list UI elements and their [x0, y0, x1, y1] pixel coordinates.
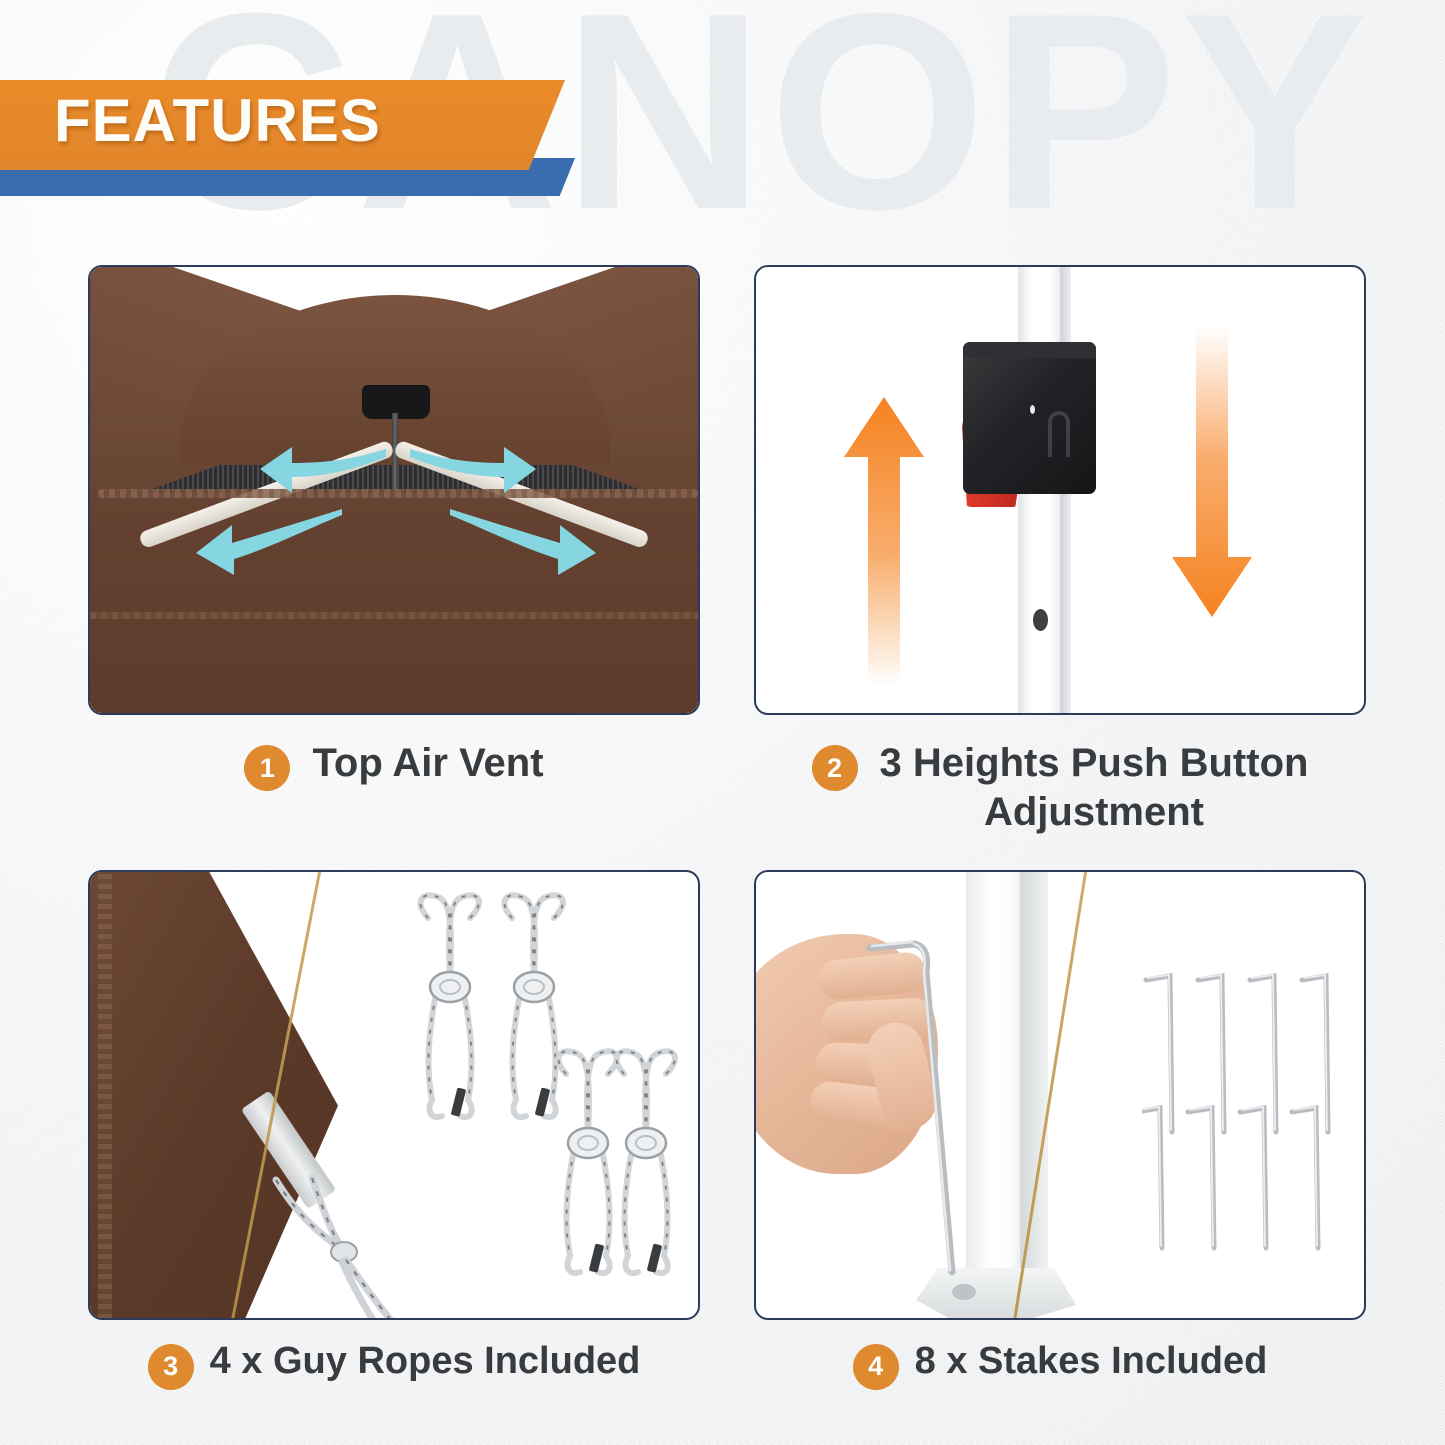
feature-caption-4: 4 8 x Stakes Included [754, 1320, 1366, 1410]
feature-title-1: Top Air Vent [312, 739, 543, 788]
feature-number-badge-4: 4 [853, 1344, 899, 1390]
feature-card-1: 1 Top Air Vent [88, 265, 700, 837]
canopy-seam-lower [90, 612, 700, 619]
banner-title: FEATURES [54, 86, 381, 155]
feature-image-stakes [754, 870, 1366, 1320]
feature-card-2: 2 3 Heights Push Button Adjustment [754, 265, 1366, 837]
feature-title-2: 3 Heights Push Button Adjustment [880, 739, 1309, 837]
canopy-seam-upper [98, 489, 698, 498]
attached-guy-rope-icon [268, 1172, 488, 1320]
push-button-housing [963, 342, 1096, 494]
feature-card-3: 3 4 x Guy Ropes Included [88, 870, 700, 1410]
airflow-arrow-upper-left-icon [258, 443, 388, 501]
feature-number-badge-3: 3 [148, 1344, 194, 1390]
feature-image-guy-ropes [88, 870, 700, 1320]
stake-set-icon [1142, 932, 1362, 1252]
airflow-arrow-lower-right-icon [448, 505, 598, 579]
housing-pin-dot [1030, 405, 1035, 414]
feature-title-3: 4 x Guy Ropes Included [210, 1338, 641, 1384]
guy-rope-bundle-icon [602, 1040, 698, 1290]
push-button-housing-top [963, 342, 1096, 358]
held-stake-icon [852, 932, 992, 1292]
airflow-arrow-lower-left-icon [194, 505, 344, 579]
canopy-leg-side-face [1020, 870, 1048, 1290]
feature-image-top-air-vent [88, 265, 700, 715]
features-grid: 1 Top Air Vent [88, 265, 1366, 1410]
feature-card-4: 4 8 x Stakes Included [754, 870, 1366, 1410]
canopy-hem-stitching [98, 874, 112, 1320]
feature-caption-3: 3 4 x Guy Ropes Included [88, 1320, 700, 1410]
feature-image-push-button [754, 265, 1366, 715]
guy-rope-bundle-icon [406, 884, 502, 1134]
feature-caption-2: 2 3 Heights Push Button Adjustment [754, 715, 1366, 837]
feature-number-badge-1: 1 [244, 745, 290, 791]
arrow-up-icon [842, 397, 926, 687]
leg-adjustment-hole [1033, 609, 1048, 631]
feature-number-badge-2: 2 [812, 745, 858, 791]
airflow-arrow-upper-right-icon [408, 443, 538, 501]
feature-title-2-line2: Adjustment [984, 790, 1204, 834]
feature-caption-1: 1 Top Air Vent [88, 715, 700, 819]
arrow-down-icon [1170, 327, 1254, 617]
feature-title-2-line1: 3 Heights Push Button [880, 741, 1309, 785]
housing-slot [1048, 411, 1070, 457]
feature-title-4: 8 x Stakes Included [915, 1338, 1268, 1384]
